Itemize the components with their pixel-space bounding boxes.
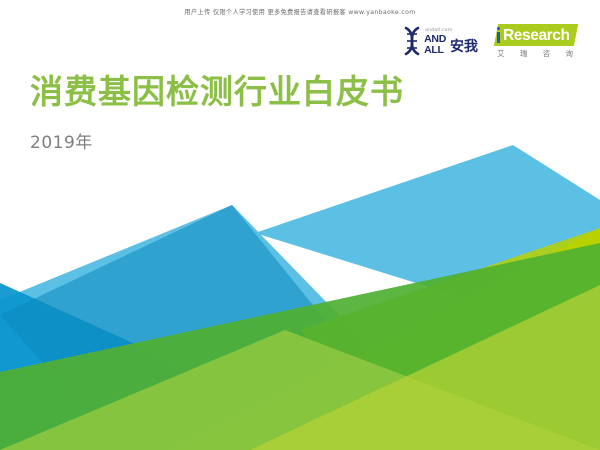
andall-line2: ALL: [424, 45, 446, 55]
andall-logo: andall.com AND ALL 安我: [403, 24, 478, 56]
andall-line1: AND: [424, 34, 446, 44]
andall-wordmark: andall.com AND ALL 安我: [424, 26, 478, 56]
headline-block: 消费基因检测行业白皮书 2019年: [30, 72, 404, 154]
iresearch-chinese-name: 艾 瑞 咨 询: [497, 48, 573, 59]
iresearch-cn-char-3: 咨: [543, 48, 551, 59]
iresearch-cn-char-4: 询: [565, 48, 573, 59]
iresearch-logo: Research 艾 瑞 咨 询: [492, 24, 576, 62]
report-cover-page: 用户上传 仅限个人学习使用 更多免费报告请查看研报客 www.yanbaoke.…: [0, 0, 600, 450]
iresearch-i-stem: [497, 32, 500, 43]
andall-chinese-name: 安我: [450, 40, 478, 55]
logo-row: andall.com AND ALL 安我 Research 艾 瑞 咨: [403, 24, 576, 62]
iresearch-cn-char-2: 瑞: [520, 48, 528, 59]
mountain-polygon-graphic: [0, 0, 600, 450]
page-subtitle-year: 2019年: [30, 132, 404, 154]
iresearch-cn-char-1: 艾: [497, 48, 505, 59]
watermark-text: 用户上传 仅限个人学习使用 更多免费报告请查看研报客 www.yanbaoke.…: [184, 6, 415, 15]
iresearch-wordmark: Research: [503, 26, 570, 45]
dna-helix-icon: [403, 26, 422, 56]
watermark-bar: 用户上传 仅限个人学习使用 更多免费报告请查看研报客 www.yanbaoke.…: [0, 0, 600, 22]
page-title: 消费基因检测行业白皮书: [30, 72, 404, 112]
